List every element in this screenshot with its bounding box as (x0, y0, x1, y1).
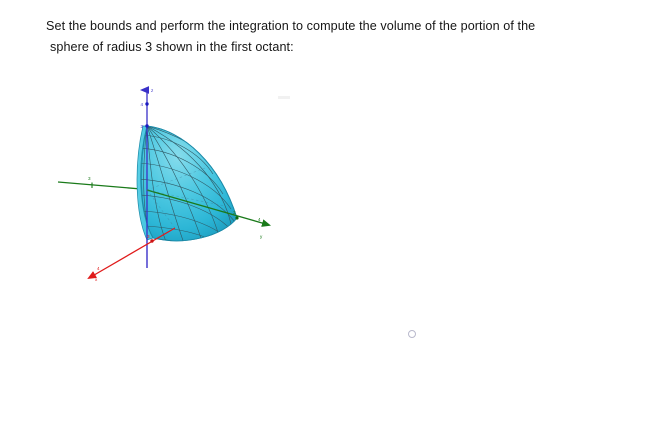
axis-x-tick-3: 3 (147, 234, 150, 239)
axis-z-label: z (151, 88, 154, 93)
question-text: Set the bounds and perform the integrati… (46, 16, 606, 58)
axis-y-tick-3: 3 (233, 210, 236, 215)
axis-y-label: y (260, 234, 263, 239)
axis-x-label: x (95, 277, 98, 282)
question-line-1: Set the bounds and perform the integrati… (46, 16, 606, 37)
render-artifact (278, 96, 290, 99)
axis-z-tick-4: 4 (141, 102, 144, 107)
question-line-2: sphere of radius 3 shown in the first oc… (46, 37, 606, 58)
axis-y-tick-neg3: 3 (88, 176, 91, 181)
figure-canvas: 3 (55, 78, 295, 293)
small-circle-marker (408, 330, 416, 338)
axis-x-tick-4: 4 (97, 266, 100, 271)
sphere-octant-solid (137, 126, 237, 253)
axis-z-tick-3: 3 (141, 124, 144, 129)
axis-x: 3 4 x (89, 228, 175, 282)
axis-y-tick-4: 4 (258, 217, 261, 222)
sphere-octant-figure: 3 (55, 78, 295, 293)
